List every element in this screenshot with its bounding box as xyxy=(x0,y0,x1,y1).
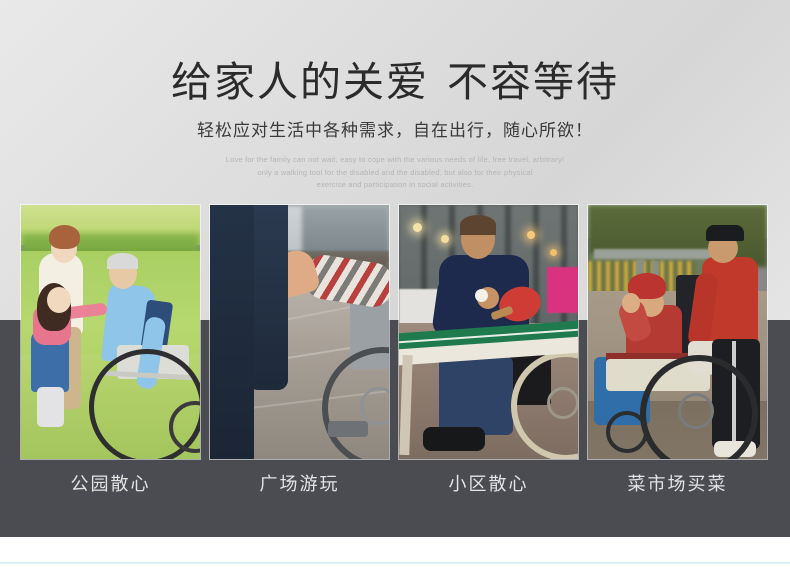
headline-part-2: 不容等待 xyxy=(447,59,619,105)
promo-banner-page: 给家人的关爱不容等待 轻松应对生活中各种需求，自在出行，随心所欲！ Love f… xyxy=(0,0,790,567)
photo-gallery xyxy=(0,205,790,459)
tt-man-jeans xyxy=(439,357,513,435)
park-girl-legs xyxy=(37,387,64,427)
tt-man-hair xyxy=(460,215,496,235)
caption-neighborhood: 小区散心 xyxy=(399,470,578,496)
gallery-captions: 公园散心 广场游玩 小区散心 菜市场买菜 xyxy=(0,470,790,504)
headline-part-1: 给家人的关爱 xyxy=(171,59,429,105)
gallery-photo-plaza[interactable] xyxy=(210,205,389,459)
tt-lamp-2 xyxy=(441,235,449,243)
gallery-photo-market[interactable] xyxy=(588,205,767,459)
caption-plaza: 广场游玩 xyxy=(210,470,389,496)
caption-market: 菜市场买菜 xyxy=(588,470,767,496)
tt-pink-chair xyxy=(547,267,578,313)
caption-park: 公园散心 xyxy=(21,470,200,496)
tt-ball xyxy=(475,289,488,302)
footer-divider xyxy=(0,562,790,564)
plaza-standing-leg-back xyxy=(248,205,288,390)
tt-lamp-4 xyxy=(550,249,557,256)
market-man-cap xyxy=(706,225,744,241)
english-description: Love for the family can not wait, easy t… xyxy=(185,141,605,191)
tt-man-shoes xyxy=(423,427,485,451)
gallery-photo-park[interactable] xyxy=(21,205,200,459)
plaza-standing-leg-front xyxy=(210,205,254,459)
english-line-2: only a walking tool for the disabled and… xyxy=(185,167,605,179)
park-girl-head xyxy=(47,287,71,313)
plaza-buildings xyxy=(302,205,389,257)
tt-lamp-3 xyxy=(527,231,535,239)
market-wheelchair-small-wheel xyxy=(606,411,648,453)
english-line-1: Love for the family can not wait, easy t… xyxy=(185,154,605,166)
subtitle: 轻松应对生活中各种需求，自在出行，随心所欲！ xyxy=(0,106,790,141)
gallery-photo-table-tennis[interactable] xyxy=(399,205,578,459)
page-title: 给家人的关爱不容等待 xyxy=(0,0,790,106)
tt-lamp-1 xyxy=(413,223,422,232)
park-woman-hair xyxy=(49,225,80,249)
english-line-3: exercise and participation in social act… xyxy=(185,179,605,191)
market-wheelchair-hub xyxy=(678,393,714,429)
header-section: 给家人的关爱不容等待 轻松应对生活中各种需求，自在出行，随心所欲！ Love f… xyxy=(0,0,790,200)
plaza-wheelchair-footrest xyxy=(328,421,368,437)
market-woman-hand xyxy=(622,293,640,313)
park-man-hair xyxy=(107,253,138,269)
tt-wheelchair-hub xyxy=(547,387,578,419)
